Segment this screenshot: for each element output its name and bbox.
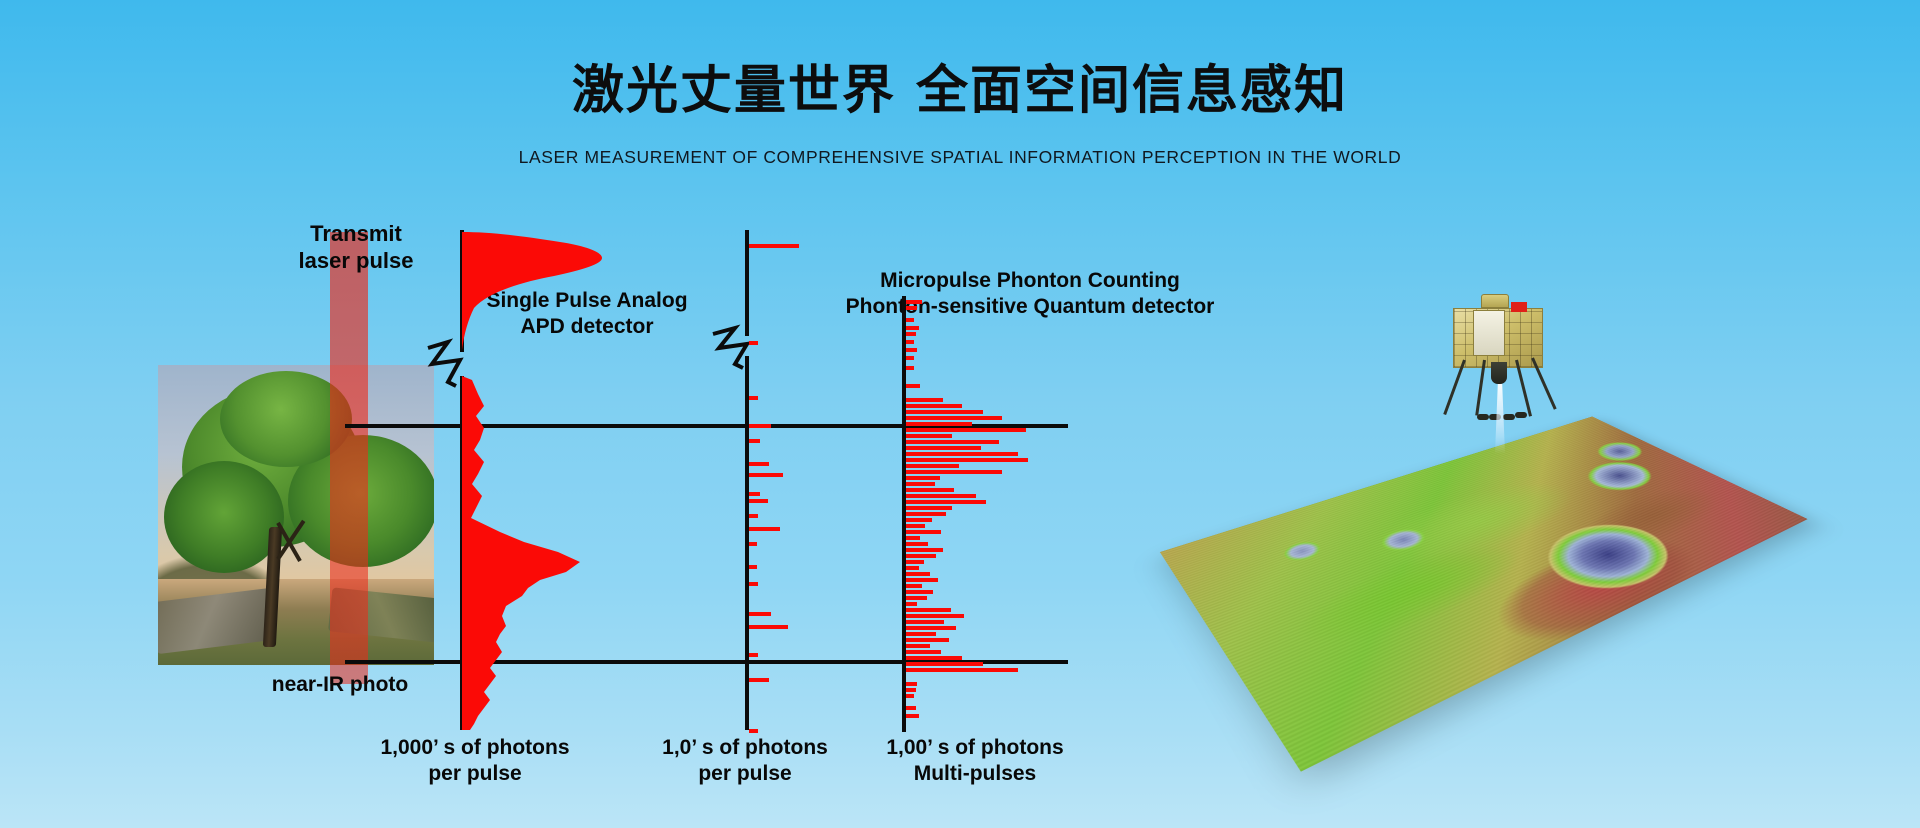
caption-2-line1: 1,0’ s of photons [630,735,860,761]
photon-return-bar [749,514,758,518]
chart-single-pulse-analog [460,230,680,730]
photon-return-bar [906,398,943,402]
chart-sparse-photon-returns [745,230,865,730]
caption-1-line1: 1,000’ s of photons [340,735,610,761]
photon-return-bar [749,424,771,428]
photon-return-bar [749,499,768,503]
photon-return-bar [906,542,928,546]
photon-return-bar [906,572,930,576]
photon-return-bar [906,416,1002,420]
photon-return-bar [906,440,999,444]
photon-return-bar [906,530,941,534]
photon-return-bar [906,566,919,570]
photon-return-bar [906,434,952,438]
photon-return-bar [749,341,758,345]
photon-return-bar [749,582,758,586]
photon-return-bar [906,464,959,468]
photon-return-bar [906,638,949,642]
photon-return-bar [906,306,917,310]
photon-return-bar [749,244,799,248]
label-transmit-laser-pulse: Transmit laser pulse [266,220,446,275]
lander-foot-1 [1477,414,1489,420]
photon-return-bar [906,626,956,630]
photon-return-bar [906,326,919,330]
lander-leg-2 [1475,360,1486,416]
photon-return-bar [749,729,758,733]
lander-flag-icon [1511,302,1527,312]
photon-return-bar [906,340,914,344]
photon-return-bar [906,608,951,612]
photon-return-bar [906,644,930,648]
sparse-bar-group [749,230,865,730]
photon-return-bar [906,590,933,594]
photon-return-bar [906,596,927,600]
photon-return-bar [749,462,769,466]
caption-micropulse: 1,00’ s of photons Multi-pulses [855,735,1095,787]
photon-return-bar [906,578,938,582]
photon-return-bar [906,404,962,408]
page-subtitle: LASER MEASUREMENT OF COMPREHENSIVE SPATI… [0,147,1920,168]
photon-return-bar [906,650,941,654]
photon-return-bar [906,356,914,360]
label-transmit-line2: laser pulse [266,247,446,274]
label-micro-line1: Micropulse Phonton Counting [820,268,1240,294]
photon-return-bar [749,678,769,682]
photon-return-bar [906,384,920,388]
caption-single-pulse: 1,000’ s of photons per pulse [340,735,610,787]
photon-return-bar [749,492,760,496]
photon-return-bar [906,422,972,426]
engine-plume [1495,384,1505,454]
photon-return-bar [906,620,944,624]
photon-return-bar [906,428,1026,432]
photon-return-bar [906,694,914,698]
photon-return-bar [906,318,914,322]
photon-return-bar [906,518,932,522]
photon-return-bar [906,506,952,510]
photon-return-bar [906,332,916,336]
analog-transmit-pulse [462,230,622,352]
caption-2-line2: per pulse [630,761,860,787]
photon-return-bar [906,632,936,636]
caption-3-line1: 1,00’ s of photons [855,735,1095,761]
caption-sparse-photons: 1,0’ s of photons per pulse [630,735,860,787]
photon-return-bar [906,452,1018,456]
photon-return-bar [906,688,916,692]
photon-return-bar [906,476,940,480]
photon-return-bar [906,524,925,528]
photon-return-bar [906,548,943,552]
photon-return-bar [906,348,917,352]
photon-return-bar [906,536,920,540]
photon-return-bar [906,482,935,486]
photon-return-bar [906,458,1028,462]
photon-return-bar [906,668,1018,672]
lander-foot-4 [1515,412,1527,418]
photon-return-bar [906,554,936,558]
photon-return-bar [906,560,924,564]
photon-return-bar [906,494,976,498]
photon-return-bar [906,682,917,686]
photon-return-bar [749,653,758,657]
photon-return-bar [906,488,954,492]
caption-3-line2: Multi-pulses [855,761,1095,787]
label-transmit-line1: Transmit [266,220,446,247]
photon-return-bar [906,584,922,588]
photon-return-bar [906,500,986,504]
photon-return-bar [749,473,783,477]
photon-return-bar [749,625,788,629]
lidar-3d-scene [1195,300,1835,760]
photon-return-bar [906,470,1002,474]
lander-leg-3 [1515,360,1532,417]
terrain-elevation-model [1160,416,1808,771]
photon-return-bar [749,439,760,443]
page-title: 激光丈量世界 全面空间信息感知 [0,48,1920,123]
photon-return-bar [749,396,758,400]
photon-return-bar [906,706,916,710]
lander-antenna [1481,294,1509,308]
lander-leg-4 [1531,357,1557,409]
photon-return-bar [906,662,983,666]
photon-return-bar [906,300,922,304]
lander-panel [1473,310,1505,356]
photon-return-bar [906,366,914,370]
photon-return-bar [749,527,780,531]
lander-engine-nozzle [1491,362,1507,384]
near-ir-tree-photo [158,365,434,665]
photon-return-bar [906,656,962,660]
photon-return-bar [906,410,983,414]
dense-bar-group [906,296,1092,732]
photon-return-bar [906,446,981,450]
photon-return-bar [749,542,757,546]
photon-return-bar [906,714,919,718]
lunar-lander [1439,300,1559,420]
chart-micropulse-histogram [902,296,1092,732]
caption-1-line2: per pulse [340,761,610,787]
label-near-ir-photo: near-IR photo [240,672,440,698]
photon-return-bar [906,512,946,516]
tree-canopy-left-low [164,461,284,573]
photon-return-bar [906,614,964,618]
transmit-laser-beam [330,232,368,684]
lander-foot-3 [1503,414,1515,420]
photon-return-bar [906,602,917,606]
photon-return-bar [749,612,771,616]
analog-return-waveform [462,376,632,730]
photon-return-bar [749,565,757,569]
